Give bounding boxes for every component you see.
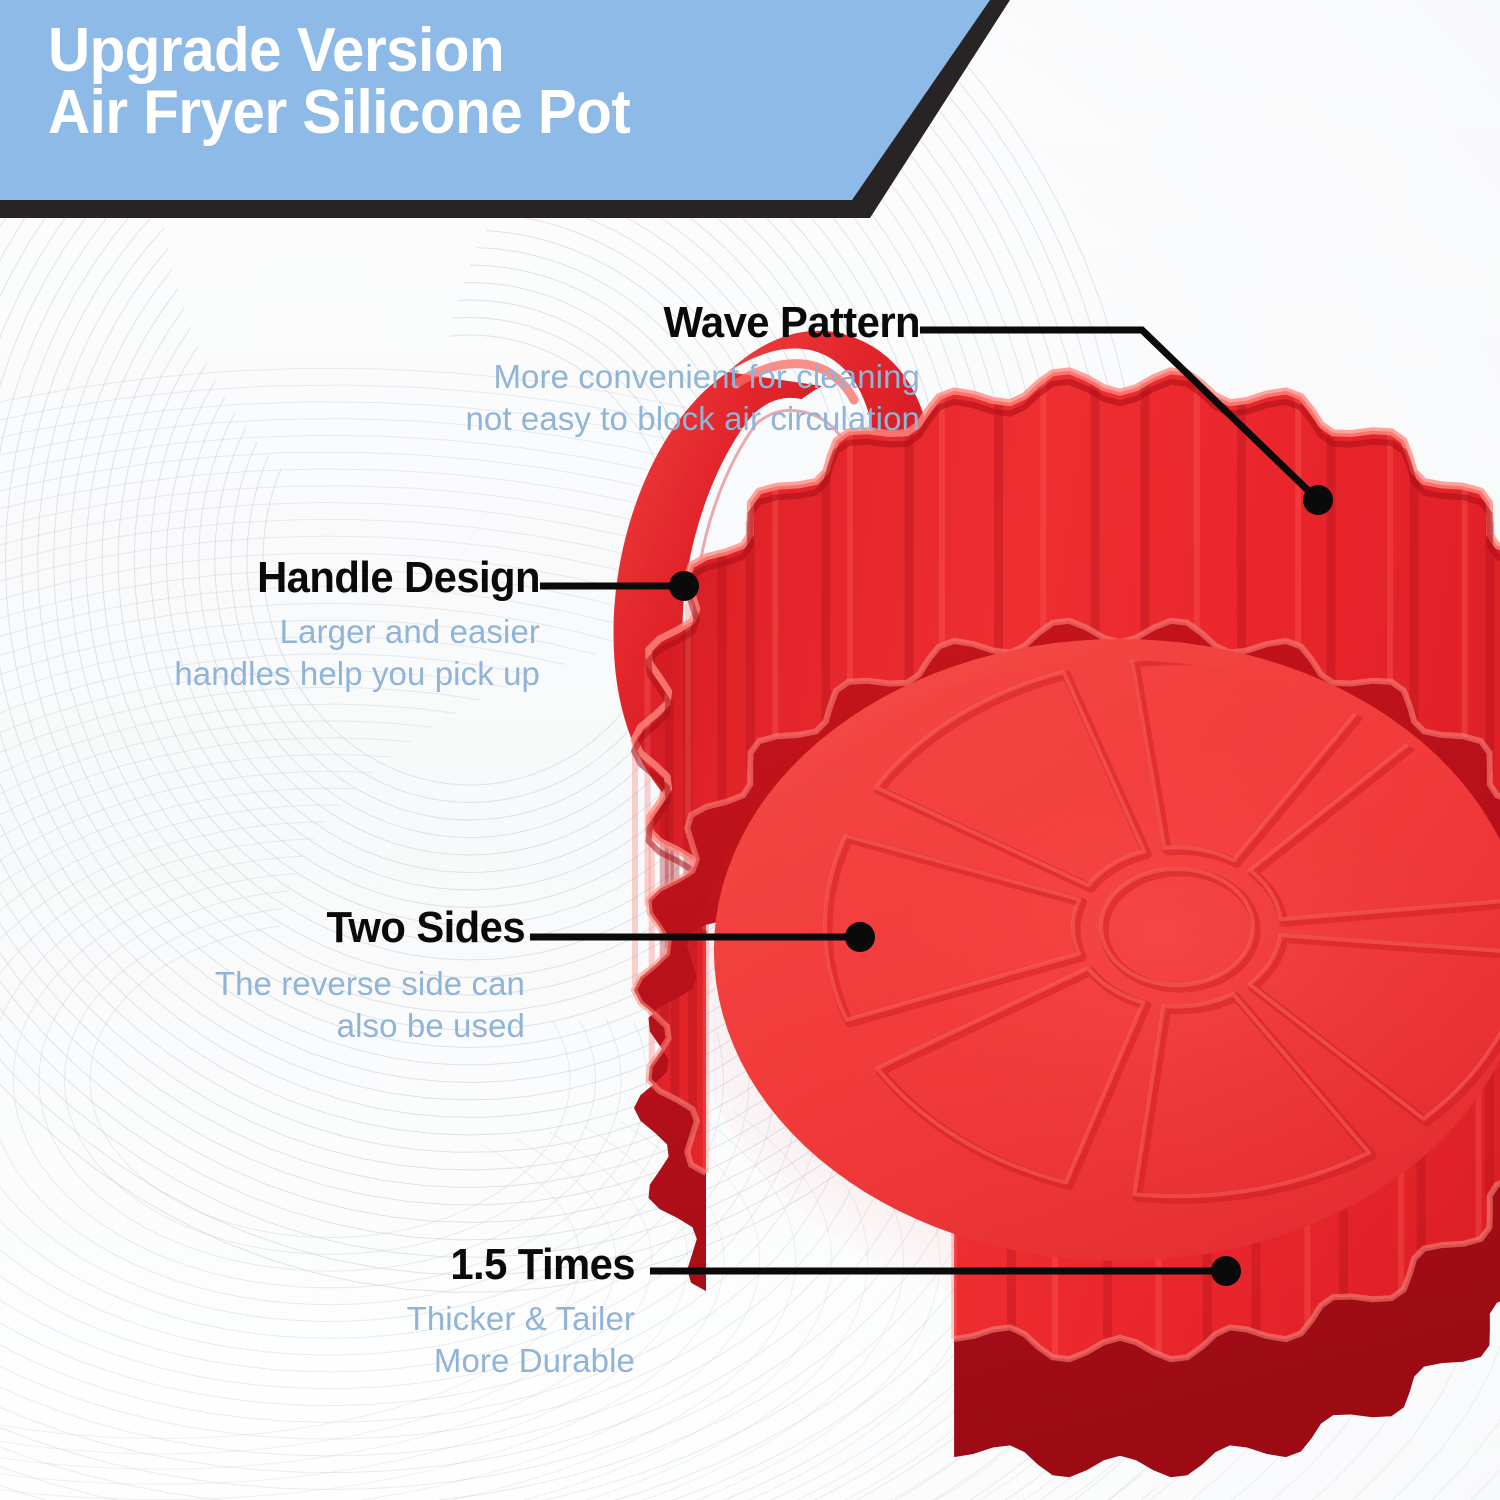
air-fryer-silicone-pot-illustration xyxy=(560,300,1500,1500)
leader-dot-wave-pattern xyxy=(1303,485,1333,515)
leader-line-wave-pattern xyxy=(920,330,1318,500)
callout-title-handle-design: Handle Design xyxy=(46,555,540,601)
callout-subtitle-1-5-times: Thicker & Tailer More Durable xyxy=(240,1298,635,1382)
callout-title-two-sides: Two Sides xyxy=(131,905,525,951)
leader-dot-two-sides xyxy=(845,922,875,952)
callout-handle-design: Handle Design Larger and easier handles … xyxy=(20,555,540,696)
callout-subtitle-handle-design: Larger and easier handles help you pick … xyxy=(20,611,540,695)
page-title: Upgrade Version Air Fryer Silicone Pot xyxy=(48,20,630,144)
callout-wave-pattern: Wave Pattern More convenient for cleanin… xyxy=(300,300,920,441)
callout-subtitle-two-sides: The reverse side can also be used xyxy=(110,963,525,1047)
background-wave-texture xyxy=(0,0,1500,1500)
callout-two-sides: Two Sides The reverse side can also be u… xyxy=(110,905,525,1048)
infographic-canvas: Upgrade Version Air Fryer Silicone Pot W… xyxy=(0,0,1500,1500)
leader-lines xyxy=(0,0,1500,1500)
leader-dot-handle-design xyxy=(669,571,699,601)
callout-title-wave-pattern: Wave Pattern xyxy=(331,300,920,346)
callout-title-1-5-times: 1.5 Times xyxy=(260,1242,635,1288)
background-gradient xyxy=(0,0,1500,1500)
pot-wave-wall xyxy=(634,371,1500,1359)
leader-dot-1-5-times xyxy=(1211,1256,1241,1286)
pot-base-segments xyxy=(690,639,1500,1320)
pot-lower-rim xyxy=(634,621,1500,1477)
callout-1-5-times: 1.5 Times Thicker & Tailer More Durable xyxy=(240,1242,635,1383)
callout-subtitle-wave-pattern: More convenient for cleaning not easy to… xyxy=(300,356,920,440)
